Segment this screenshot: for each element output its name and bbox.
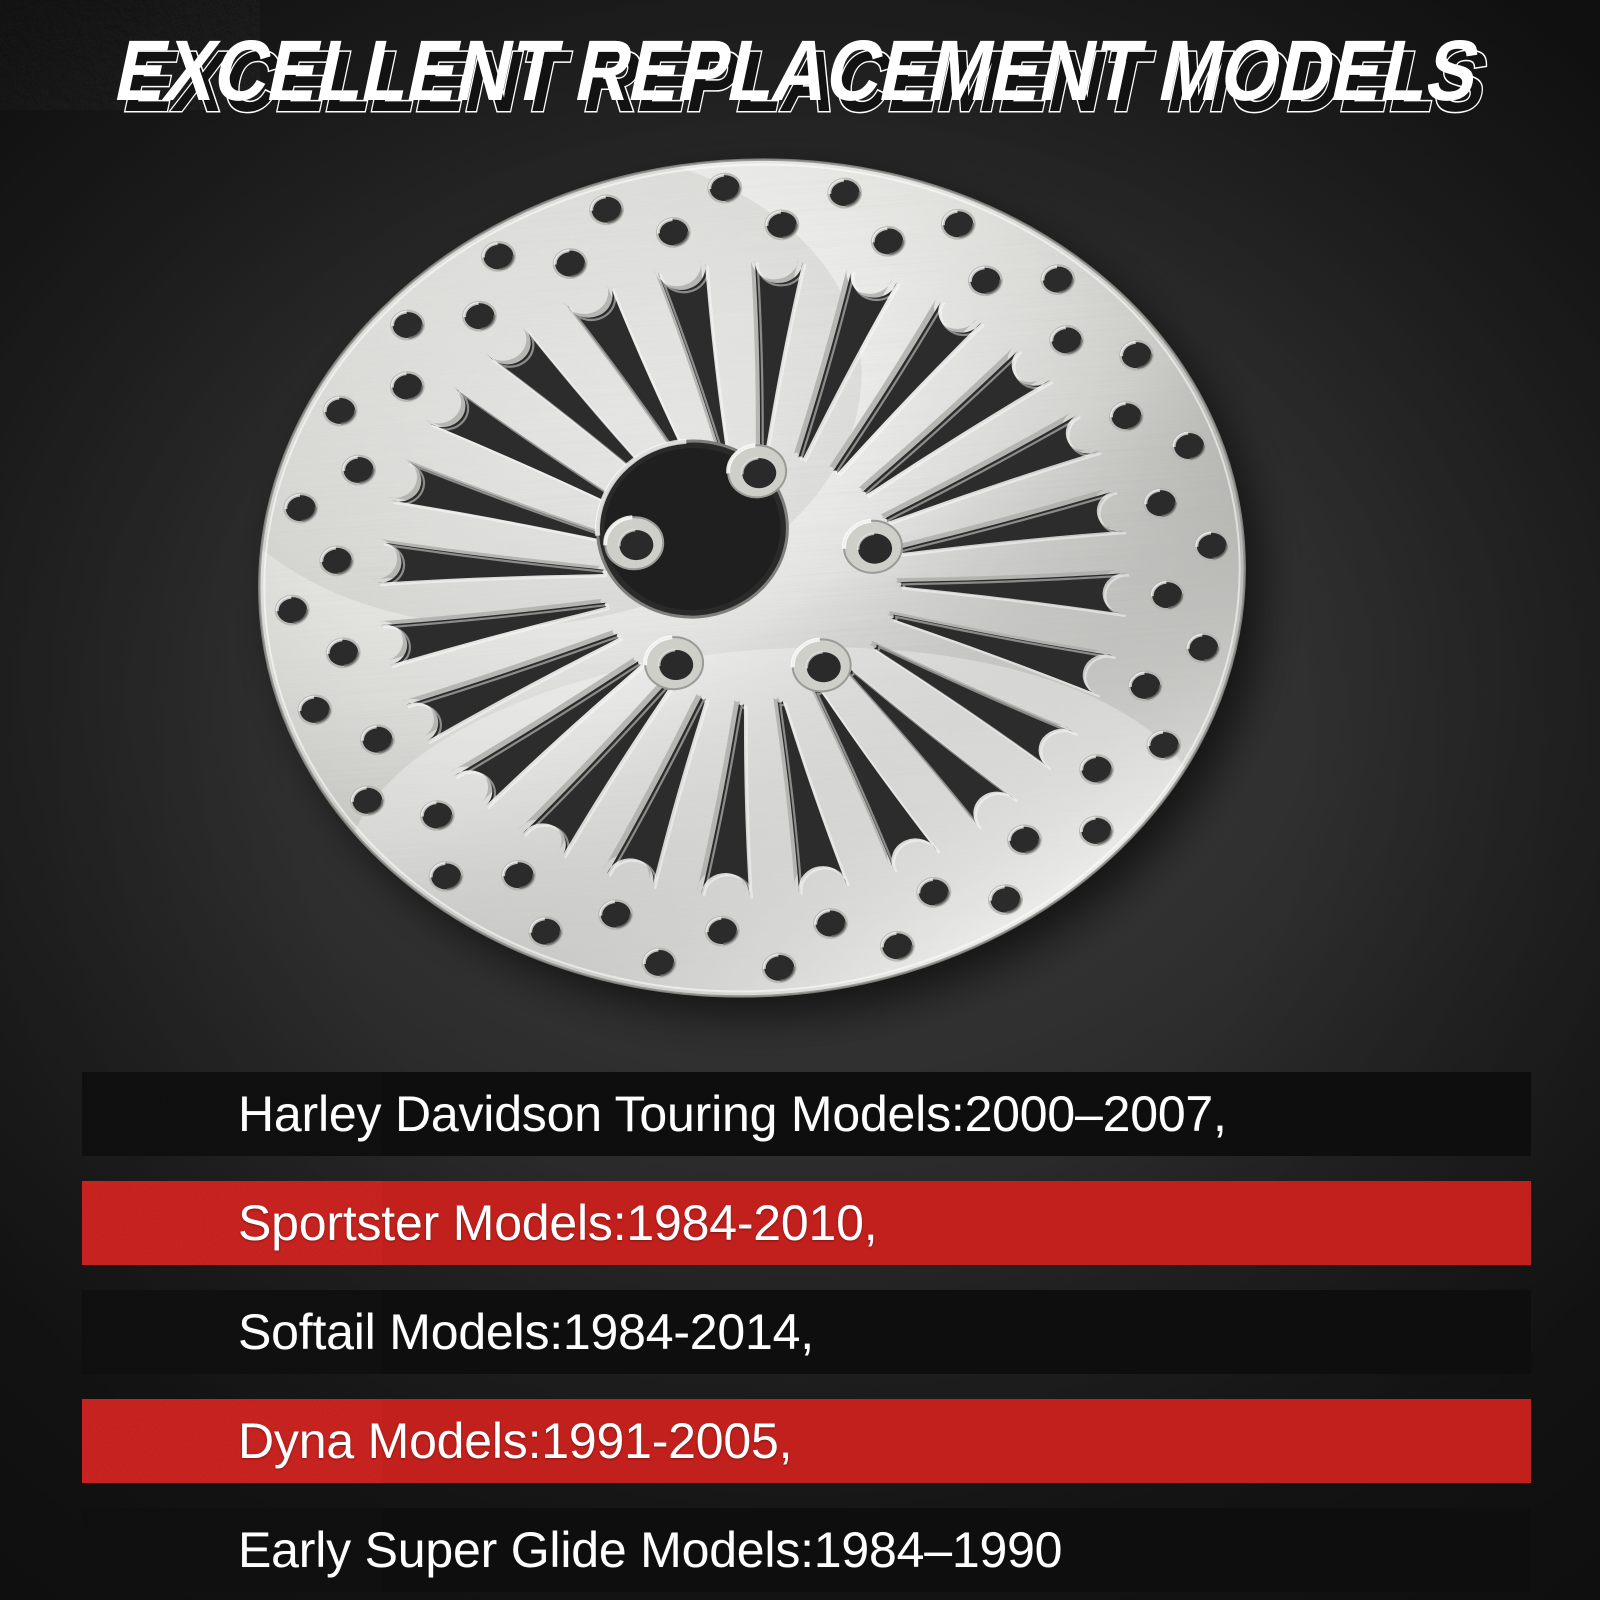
brake-rotor-artwork xyxy=(236,150,1296,1050)
model-bar-label: Softail Models:1984-2014, xyxy=(238,1307,814,1357)
model-bar-softail: Softail Models:1984-2014, xyxy=(82,1290,1531,1374)
title-artwork: EXCELLENT REPLACEMENT MODELS EXCELLENT R… xyxy=(50,24,1550,120)
model-bar-dyna: Dyna Models:1991-2005, xyxy=(82,1399,1531,1483)
model-bar-label: Sportster Models:1984-2010, xyxy=(238,1198,877,1248)
product-banner: EXCELLENT REPLACEMENT MODELS EXCELLENT R… xyxy=(0,0,1600,1600)
model-bar-label: Harley Davidson Touring Models:2000–2007… xyxy=(238,1089,1227,1139)
model-bar-touring: Harley Davidson Touring Models:2000–2007… xyxy=(82,1072,1531,1156)
brake-rotor-image xyxy=(236,150,1296,1050)
model-bar-label: Dyna Models:1991-2005, xyxy=(238,1416,792,1466)
model-bar-sportster: Sportster Models:1984-2010, xyxy=(82,1181,1531,1265)
title-text: EXCELLENT REPLACEMENT MODELS xyxy=(108,23,1488,119)
page-title: EXCELLENT REPLACEMENT MODELS EXCELLENT R… xyxy=(0,24,1600,120)
model-bar-super-glide: Early Super Glide Models:1984–1990 xyxy=(82,1508,1531,1592)
model-bar-label: Early Super Glide Models:1984–1990 xyxy=(238,1525,1062,1575)
model-compatibility-list: Harley Davidson Touring Models:2000–2007… xyxy=(82,1072,1531,1592)
